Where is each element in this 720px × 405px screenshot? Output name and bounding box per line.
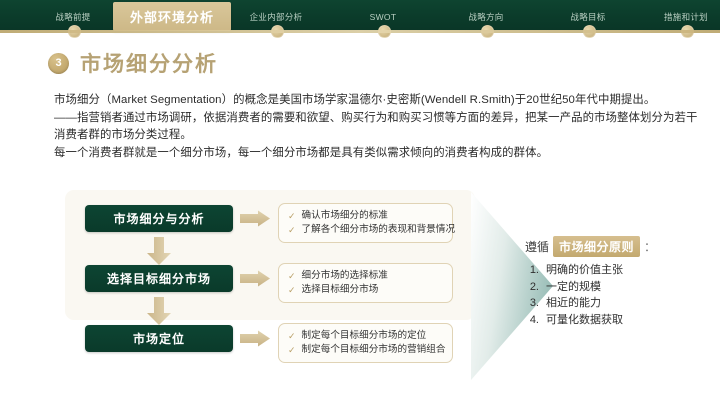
section-number-badge: 3 [48,53,69,74]
list-item: 1. 明确的价值主张 [527,262,623,279]
nav-item-label: 企业内部分析 [250,11,303,23]
checklist-card-3: ✓ 制定每个目标细分市场的定位 ✓ 制定每个目标细分市场的营销组合 [278,323,453,363]
list-item: ✓ 选择目标细分市场 [288,283,444,297]
flow-step-box-3[interactable]: 市场定位 [85,325,233,352]
page-heading: 3 市场细分分析 [48,48,218,78]
check-icon: ✓ [288,223,296,237]
check-icon: ✓ [288,283,296,297]
flow-step-box-1[interactable]: 市场细分与分析 [85,205,233,232]
principles-prefix: 遵循 [525,238,549,255]
list-item: ✓ 确认市场细分的标准 [288,209,444,223]
list-item: 2. 一定的规模 [527,279,623,296]
nav-item-label: 战略目标 [570,11,605,23]
list-item-label: 制定每个目标细分市场的定位 [302,329,427,343]
list-item: 3. 相近的能力 [527,295,623,312]
paragraph-line-4: 每一个消费者群就是一个细分市场，每一个细分市场都是具有类似需求倾向的消费者构成的… [54,145,678,163]
list-item-label: 制定每个目标细分市场的营销组合 [302,343,446,357]
principles-list: 1. 明确的价值主张 2. 一定的规模 3. 相近的能力 4. 可量化数据获取 [527,262,623,328]
list-item-label: 一定的规模 [546,279,601,296]
principles-colon: ： [644,238,656,255]
list-item-label: 确认市场细分的标准 [302,209,388,223]
flow-step-label: 选择目标细分市场 [107,270,211,287]
principles-chip: 市场细分原则 [553,236,640,257]
list-item: ✓ 了解各个细分市场的表现和背景情况 [288,223,444,237]
nav-item-list: 战略前提 外部环境分析 企业内部分析 SWOT 战略方向 战略目标 [0,0,720,33]
down-arrow-icon-2 [145,296,173,326]
check-icon: ✓ [288,269,296,283]
list-item-number: 4. [527,312,539,329]
right-arrow-icon-2 [239,270,271,287]
list-item-label: 相近的能力 [546,295,601,312]
top-navigation-bar: 战略前提 外部环境分析 企业内部分析 SWOT 战略方向 战略目标 [0,0,720,33]
list-item-label: 明确的价值主张 [546,262,623,279]
paragraph-line-2: ——指营销者通过市场调研，依据消费者的需要和欲望、购买行为和购买习惯等方面的差异… [54,110,678,128]
list-item: 4. 可量化数据获取 [527,312,623,329]
page-title: 市场细分分析 [80,48,218,78]
list-item-label: 细分市场的选择标准 [302,269,388,283]
list-item-number: 2. [527,279,539,296]
flow-step-label: 市场细分与分析 [113,210,204,227]
list-item-label: 可量化数据获取 [546,312,623,329]
checklist-card-1: ✓ 确认市场细分的标准 ✓ 了解各个细分市场的表现和背景情况 [278,203,453,243]
list-item: ✓ 制定每个目标细分市场的定位 [288,329,444,343]
nav-item-label: SWOT [370,12,397,22]
nav-item-label: 措施和计划 [664,11,708,23]
paragraph-line-1: 市场细分（Market Segmentation）的概念是美国市场学家温德尔·史… [54,92,678,110]
flow-step-box-2[interactable]: 选择目标细分市场 [85,265,233,292]
list-item-label: 了解各个细分市场的表现和背景情况 [302,223,456,237]
right-arrow-icon-1 [239,210,271,227]
list-item-label: 选择目标细分市场 [302,283,379,297]
intro-paragraph: 市场细分（Market Segmentation）的概念是美国市场学家温德尔·史… [54,92,678,162]
nav-item-1-active[interactable]: 外部环境分析 [113,2,231,31]
check-icon: ✓ [288,329,296,343]
flow-step-label: 市场定位 [133,330,185,347]
nav-item-label: 外部环境分析 [130,7,214,26]
principles-heading: 遵循 市场细分原则 ： [525,236,656,257]
check-icon: ✓ [288,209,296,223]
paragraph-line-3: 消费者群的市场分类过程。 [54,127,678,145]
list-item: ✓ 制定每个目标细分市场的营销组合 [288,343,444,357]
list-item: ✓ 细分市场的选择标准 [288,269,444,283]
list-item-number: 1. [527,262,539,279]
list-item-number: 3. [527,295,539,312]
check-icon: ✓ [288,343,296,357]
nav-item-label: 战略方向 [468,11,503,23]
down-arrow-icon-1 [145,236,173,266]
right-arrow-icon-3 [239,330,271,347]
nav-item-label: 战略前提 [55,11,90,23]
checklist-card-2: ✓ 细分市场的选择标准 ✓ 选择目标细分市场 [278,263,453,303]
slide: 战略前提 外部环境分析 企业内部分析 SWOT 战略方向 战略目标 [0,0,720,405]
nav-gold-underline [0,30,720,33]
